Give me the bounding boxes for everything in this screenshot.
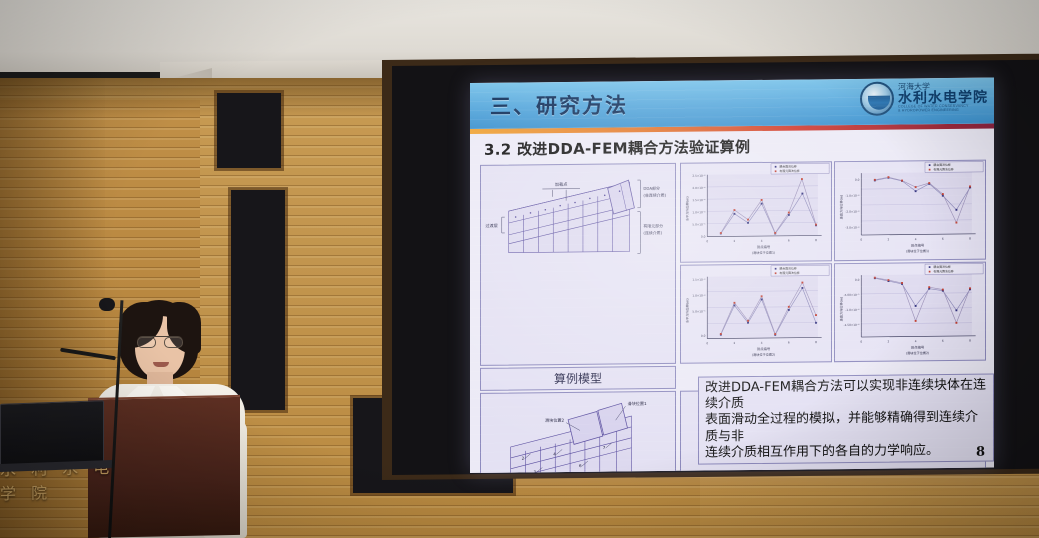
svg-text:-1.0×10⁻⁴: -1.0×10⁻⁴: [845, 194, 860, 198]
svg-text:6: 6: [942, 237, 944, 241]
conclusion-line-3: 连续介质相互作用下的各自的力学响应。: [705, 442, 987, 461]
measure-point-diagram-cell: 1 2 3 4 5 6 7 8 滑块位置1 滑块位置: [480, 391, 676, 473]
conclusion-line-1: 改进DDA-FEM耦合方法可以实现非连续块体在连续介质: [705, 377, 987, 412]
svg-text:-3.0×10⁻⁴: -3.0×10⁻⁴: [845, 225, 860, 229]
label-fem-part-sub: (连续介质): [643, 230, 662, 235]
chart-horizontal-displacement-pos1: 2.5×10⁻⁴2.0×10⁻⁴ 1.5×10⁻⁴1.0×10⁻⁴ 5.0×10…: [681, 162, 831, 261]
svg-text:2: 2: [734, 239, 736, 243]
microphone-head: [99, 298, 115, 311]
label-transition-layer: 过渡层: [485, 222, 497, 228]
svg-text:2: 2: [734, 340, 736, 344]
chart3-legend: 耦合算法位移 有限元算法位移: [771, 265, 829, 276]
lecture-hall-scene: 三、研究方法 河海大学 水利水电学院 COLLEGE OF WATER CONS…: [0, 0, 1039, 538]
label-dda-part: DDA部分: [643, 186, 660, 191]
chart-horizontal-displacement-pos2: 1.5×10⁻⁴1.0×10⁻⁴ 5.0×10⁻⁵0.0 024 68 水平方向…: [681, 264, 831, 363]
label-block-position-2: 滑块位置2: [545, 417, 565, 423]
chart-vertical-displacement-pos2: 0.0-5.00×10⁻⁵ -1.0×10⁻⁴-1.50×10⁻⁴ 024 68…: [835, 262, 985, 361]
chart3-ylabel: 水平方向位移(m): [685, 298, 690, 323]
chart1-legend-item-1: 有限元算法位移: [779, 168, 799, 173]
measure-point-label-2: 2: [522, 456, 525, 461]
svg-text:4: 4: [761, 239, 763, 243]
chart-vertical-displacement-pos1: 0.0-1.0×10⁻⁴ -2.0×10⁻⁴-3.0×10⁻⁴ 024 68 竖…: [835, 161, 985, 260]
chart3-legend-item-0: 耦合算法位移: [779, 265, 796, 270]
svg-text:4: 4: [761, 340, 763, 344]
example-model-diagram-cell: 加载点 过渡层 DDA部分 (非连续介质) 有限元部分 (连续介质): [480, 163, 676, 366]
measure-point-diagram: 1 2 3 4 5 6 7 8 滑块位置1 滑块位置: [481, 392, 675, 473]
label-dda-part-sub: (非连续介质): [643, 193, 666, 198]
chart2-ylabel: 竖直方向位移(m): [839, 195, 844, 220]
projected-slide: 三、研究方法 河海大学 水利水电学院 COLLEGE OF WATER CONS…: [470, 78, 994, 473]
svg-text:1.0×10⁻⁴: 1.0×10⁻⁴: [692, 210, 706, 214]
svg-text:2: 2: [888, 237, 890, 241]
label-fem-part: 有限元部分: [643, 223, 663, 228]
svg-text:4: 4: [915, 237, 917, 241]
svg-text:-1.50×10⁻⁴: -1.50×10⁻⁴: [844, 322, 861, 326]
svg-text:0.0: 0.0: [855, 277, 860, 281]
svg-text:0.0: 0.0: [701, 333, 706, 337]
chart-cell-4: 0.0-5.00×10⁻⁵ -1.0×10⁻⁴-1.50×10⁻⁴ 024 68…: [834, 261, 986, 362]
chart2-xlabel: 测点编号: [911, 243, 925, 248]
laptop-screen: [0, 400, 104, 466]
svg-text:2.5×10⁻⁴: 2.5×10⁻⁴: [692, 174, 706, 178]
chart4-xlabel: 测点编号: [911, 344, 925, 349]
caption-example-model: 算例模型: [480, 366, 676, 391]
svg-text:2: 2: [888, 339, 890, 343]
svg-text:0: 0: [706, 239, 708, 243]
logo-english-line-2: & HYDROPOWER ENGINEERING: [898, 109, 988, 114]
chart1-legend-item-0: 耦合算法位移: [779, 163, 796, 168]
measure-point-label-4: 4: [553, 451, 556, 456]
chart2-xlabel-sub: (滑块位于位置1): [906, 248, 930, 253]
chart-cell-2: 0.0-1.0×10⁻⁴ -2.0×10⁻⁴-3.0×10⁻⁴ 024 68 竖…: [834, 160, 986, 261]
chart4-legend-item-0: 耦合算法位移: [933, 263, 950, 268]
svg-text:5.0×10⁻⁵: 5.0×10⁻⁵: [692, 309, 705, 313]
glasses-lens-left: [137, 337, 156, 348]
svg-text:0.0: 0.0: [701, 235, 706, 239]
chart1-xlabel: 测点编号: [757, 244, 771, 249]
svg-text:6: 6: [788, 340, 790, 344]
chart2-legend: 耦合算法位移 有限元算法位移: [925, 162, 983, 173]
chart-cell-3: 1.5×10⁻⁴1.0×10⁻⁴ 5.0×10⁻⁵0.0 024 68 水平方向…: [680, 263, 832, 364]
svg-text:-2.0×10⁻⁴: -2.0×10⁻⁴: [845, 210, 860, 214]
svg-text:0: 0: [706, 341, 708, 345]
presenter-glasses: [137, 336, 183, 347]
svg-text:0: 0: [860, 238, 862, 242]
chart4-ylabel: 竖直方向位移(m): [839, 296, 844, 321]
chart-cell-1: 2.5×10⁻⁴2.0×10⁻⁴ 1.5×10⁻⁴1.0×10⁻⁴ 5.0×10…: [680, 161, 832, 262]
svg-text:8: 8: [969, 338, 971, 342]
chart4-xlabel-sub: (滑块位于位置2): [906, 350, 930, 355]
conclusion-line-2: 表面滑动全过程的模拟，并能够精确得到连续介质与非: [705, 410, 987, 445]
university-logo: 河海大学 水利水电学院 COLLEGE OF WATER CONSERVANCY…: [860, 81, 988, 116]
university-seal-icon: [860, 82, 894, 116]
svg-text:6: 6: [788, 238, 790, 242]
chart4-legend: 耦合算法位移 有限元算法位移: [925, 263, 983, 274]
svg-text:-5.00×10⁻⁵: -5.00×10⁻⁵: [844, 292, 860, 296]
label-loading-point: 加载点: [555, 181, 567, 187]
svg-text:1.5×10⁻⁴: 1.5×10⁻⁴: [692, 277, 706, 281]
svg-text:1.5×10⁻⁴: 1.5×10⁻⁴: [692, 198, 706, 202]
chart2-legend-item-0: 耦合算法位移: [933, 162, 950, 167]
conclusion-box: 改进DDA-FEM耦合方法可以实现非连续块体在连续介质 表面滑动全过程的模拟，并…: [698, 373, 994, 464]
chart3-xlabel: 测点编号: [757, 346, 771, 351]
wall-panel-dark-upper: [217, 93, 281, 168]
slide-page-number: 8: [976, 445, 985, 460]
svg-text:4: 4: [915, 339, 917, 343]
measure-point-label-7: 7: [603, 445, 606, 450]
charts-panel: 2.5×10⁻⁴2.0×10⁻⁴ 1.5×10⁻⁴1.0×10⁻⁴ 5.0×10…: [680, 160, 986, 364]
svg-text:0.0: 0.0: [855, 178, 860, 182]
svg-text:8: 8: [815, 238, 817, 242]
chart3-legend-item-1: 有限元算法位移: [779, 269, 799, 274]
presenter-mouth: [153, 362, 169, 367]
svg-text:5.0×10⁻⁵: 5.0×10⁻⁵: [692, 222, 705, 226]
chart4-legend-item-1: 有限元算法位移: [933, 268, 953, 273]
svg-text:-1.0×10⁻⁴: -1.0×10⁻⁴: [845, 307, 860, 311]
svg-text:8: 8: [815, 340, 817, 344]
example-model-diagram: 加载点 过渡层 DDA部分 (非连续介质) 有限元部分 (连续介质): [481, 164, 675, 269]
svg-text:1.0×10⁻⁴: 1.0×10⁻⁴: [692, 293, 706, 297]
chart1-legend: 耦合算法位移 有限元算法位移: [771, 163, 829, 174]
svg-text:0: 0: [860, 339, 862, 343]
svg-text:8: 8: [969, 237, 971, 241]
label-block-position-1: 滑块位置1: [627, 400, 647, 406]
glasses-lens-right: [164, 337, 183, 348]
slide-header: 三、研究方法 河海大学 水利水电学院 COLLEGE OF WATER CONS…: [470, 78, 994, 129]
slide-subtitle: 3.2 改进DDA-FEM耦合方法验证算例: [470, 129, 994, 163]
chart1-xlabel-sub: (滑块位于位置1): [752, 250, 776, 255]
slide-header-title: 三、研究方法: [490, 89, 628, 120]
svg-text:2.0×10⁻⁴: 2.0×10⁻⁴: [692, 186, 706, 190]
svg-text:6: 6: [942, 338, 944, 342]
chart1-ylabel: 水平方向位移(m): [685, 196, 690, 221]
measure-point-label-6: 6: [579, 463, 582, 468]
chart3-xlabel-sub: (滑块位于位置2): [752, 351, 776, 356]
logo-text-group: 河海大学 水利水电学院 COLLEGE OF WATER CONSERVANCY…: [898, 83, 988, 113]
chart2-legend-item-1: 有限元算法位移: [933, 166, 953, 171]
